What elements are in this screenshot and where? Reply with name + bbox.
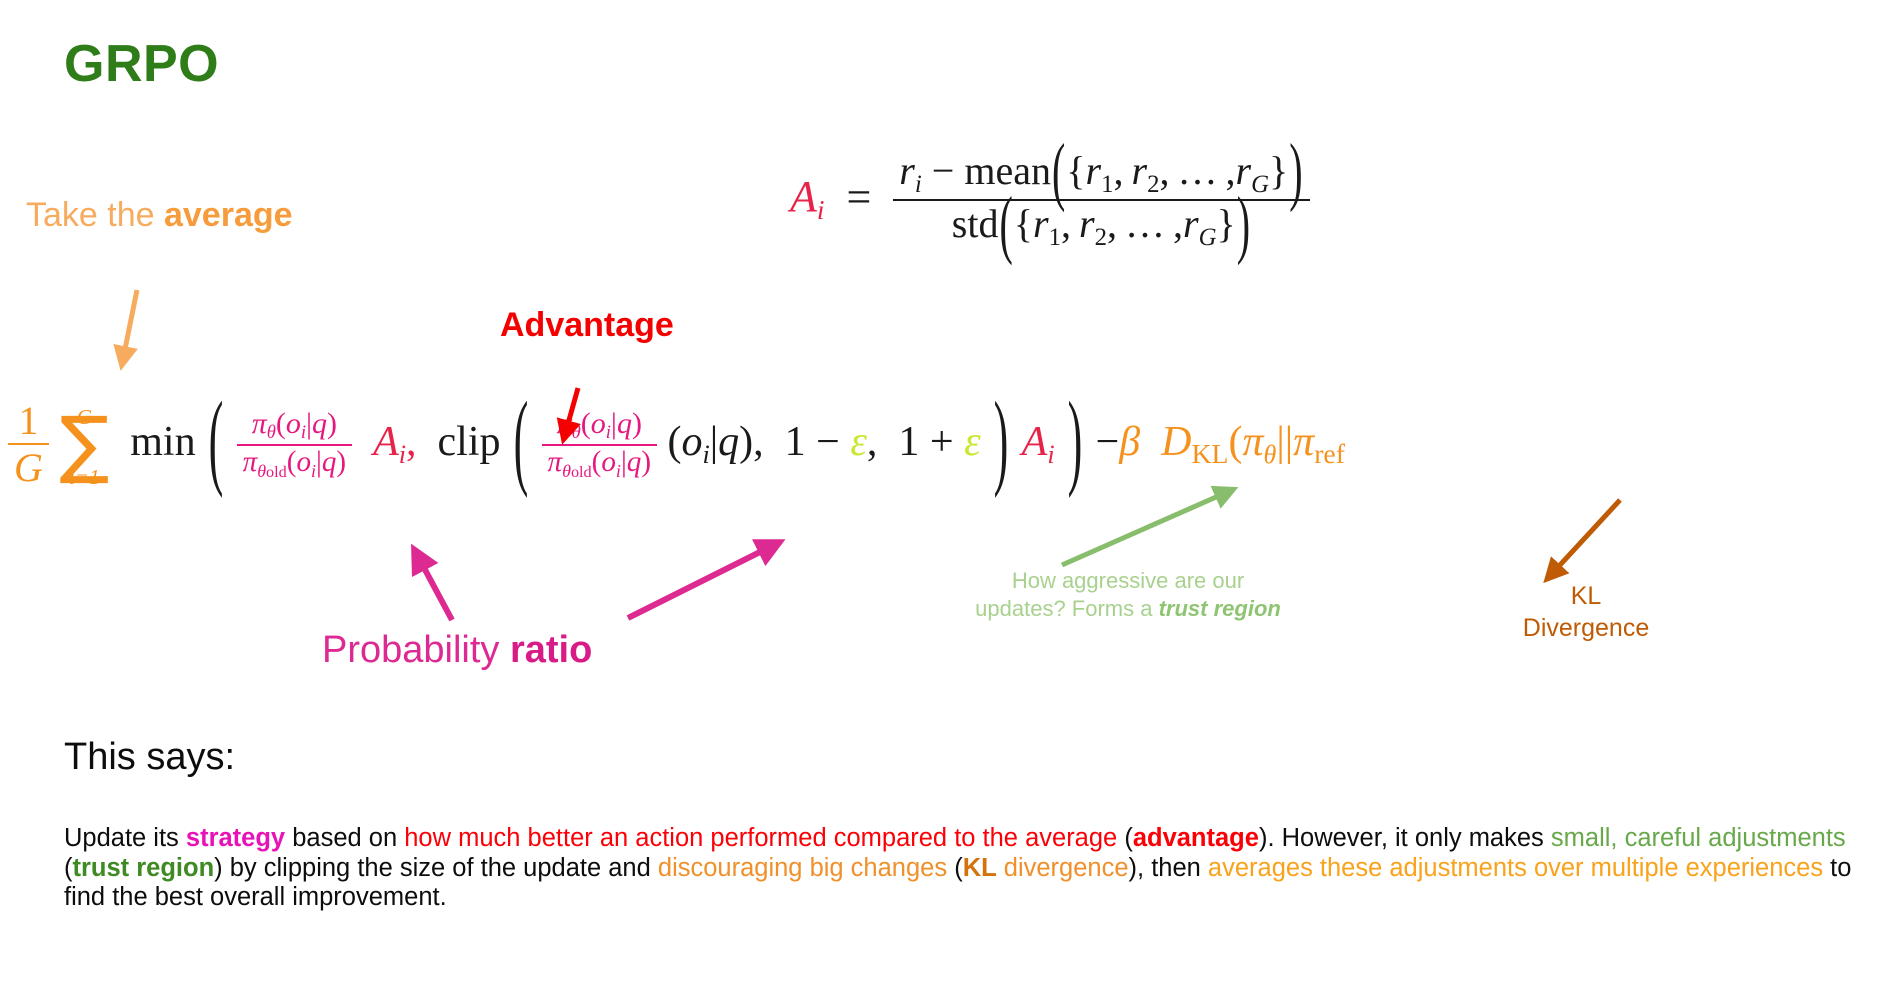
- annotation-line-1: How aggressive are our: [1012, 568, 1244, 593]
- arrow-probability-ratio-right: [628, 543, 778, 618]
- page-title: GRPO: [64, 38, 219, 90]
- advantage-lhs-symbol: Ai: [790, 172, 824, 221]
- arrow-take-the-average: [122, 290, 137, 364]
- arrow-kl-divergence: [1548, 500, 1620, 578]
- advantage-term-first: Ai: [363, 419, 406, 465]
- sigma-icon: ∑: [59, 422, 109, 468]
- explanation-paragraph: Update its strategy based on how much be…: [64, 824, 1854, 913]
- annotation-line-2-plain: updates? Forms a: [975, 596, 1158, 621]
- ratio-numerator: πθ(oi|q): [237, 408, 353, 445]
- explanation-segment-14: divergence: [997, 854, 1129, 882]
- annotation-advantage: Advantage: [500, 306, 674, 345]
- annotation-text-plain: Probability: [322, 629, 510, 671]
- probability-ratio-first: πθ(oi|q) πθold(oi|q): [237, 408, 353, 482]
- annotation-text-bold: average: [164, 196, 293, 234]
- explanation-heading: This says:: [64, 736, 235, 779]
- beta-coefficient: β: [1119, 419, 1140, 465]
- one-over-G-fraction: 1 G: [8, 399, 49, 489]
- annotation-take-the-average: Take the average: [26, 196, 293, 235]
- explanation-segment-9: trust region: [73, 854, 215, 882]
- advantage-term-second: Ai: [1022, 419, 1055, 465]
- epsilon-upper: ε: [964, 419, 981, 465]
- annotation-kl-divergence: KL Divergence: [1476, 580, 1696, 644]
- fraction-denominator-G: G: [8, 443, 49, 489]
- ratio-denominator: πθold(oi|q): [542, 444, 658, 481]
- epsilon-lower: ε: [850, 419, 867, 465]
- annotation-probability-ratio: Probability ratio: [322, 629, 592, 672]
- clip-paren-open: (: [514, 381, 529, 503]
- comma-after-advantage: ,: [406, 419, 417, 465]
- annotation-line-2-bold: trust region: [1159, 596, 1281, 621]
- probability-ratio-second: πθ(oi|q) πθold(oi|q): [542, 408, 658, 482]
- annotation-line-1: KL: [1571, 582, 1602, 610]
- summation-operator: G ∑ i=1: [59, 407, 109, 488]
- explanation-segment-7: small, careful adjustments: [1551, 824, 1846, 852]
- annotation-text-plain: Take the: [26, 196, 164, 234]
- ratio-numerator: πθ(oi|q): [542, 408, 658, 445]
- explanation-segment-15: ), then: [1129, 854, 1208, 882]
- explanation-segment-10: ) by clipping the size of the update and: [214, 854, 658, 882]
- minus-before-kl: −: [1096, 419, 1120, 465]
- advantage-formula: Ai = ri − mean({r1, r2, … ,rG}) std({r1,…: [790, 150, 1310, 252]
- explanation-segment-12: (: [947, 854, 963, 882]
- annotation-line-2: Divergence: [1523, 614, 1649, 642]
- explanation-segment-8: (: [64, 854, 73, 882]
- fraction-numerator-one: 1: [8, 399, 49, 443]
- slide-canvas: GRPO Ai = ri − mean({r1, r2, … ,rG}) std…: [0, 0, 1890, 989]
- advantage-equals: =: [835, 172, 882, 221]
- clip-upper-bound: 1 +: [888, 419, 964, 465]
- advantage-denominator: std({r1, r2, … ,rG}): [893, 199, 1309, 251]
- clip-argument-oq: (oi|q),: [668, 419, 764, 465]
- explanation-segment-0: Update its: [64, 824, 186, 852]
- explanation-segment-13: KL: [963, 854, 997, 882]
- explanation-segment-11: discouraging big changes: [658, 854, 947, 882]
- clip-paren-close: ): [994, 381, 1009, 503]
- ratio-denominator: πθold(oi|q): [237, 444, 353, 481]
- explanation-segment-4: (: [1117, 824, 1133, 852]
- explanation-segment-5: advantage: [1133, 824, 1259, 852]
- explanation-segment-16: averages these adjustments over multiple…: [1208, 854, 1823, 882]
- explanation-segment-6: ). However, it only makes: [1259, 824, 1551, 852]
- annotation-text-bold: ratio: [510, 629, 592, 671]
- explanation-segment-3: how much better an action performed comp…: [404, 824, 1117, 852]
- outer-paren-open: (: [209, 381, 224, 503]
- explanation-segment-1: strategy: [186, 824, 285, 852]
- min-function: min: [120, 419, 196, 465]
- clip-lower-bound: 1 −: [774, 419, 850, 465]
- clip-function: clip: [427, 419, 500, 465]
- grpo-objective-formula: 1 G G ∑ i=1 min ( πθ(oi|q) πθold(oi|q) A…: [8, 400, 1345, 490]
- arrow-probability-ratio-left: [415, 551, 452, 620]
- annotation-trust-region: How aggressive are our updates? Forms a …: [938, 567, 1318, 622]
- arrow-trust-region: [1062, 490, 1232, 565]
- kl-divergence-term: DKL(πθ||πref: [1151, 419, 1345, 465]
- advantage-fraction: ri − mean({r1, r2, … ,rG}) std({r1, r2, …: [893, 149, 1309, 251]
- explanation-segment-2: based on: [285, 824, 404, 852]
- outer-paren-close: ): [1068, 381, 1083, 503]
- comma-between-bounds: ,: [867, 419, 878, 465]
